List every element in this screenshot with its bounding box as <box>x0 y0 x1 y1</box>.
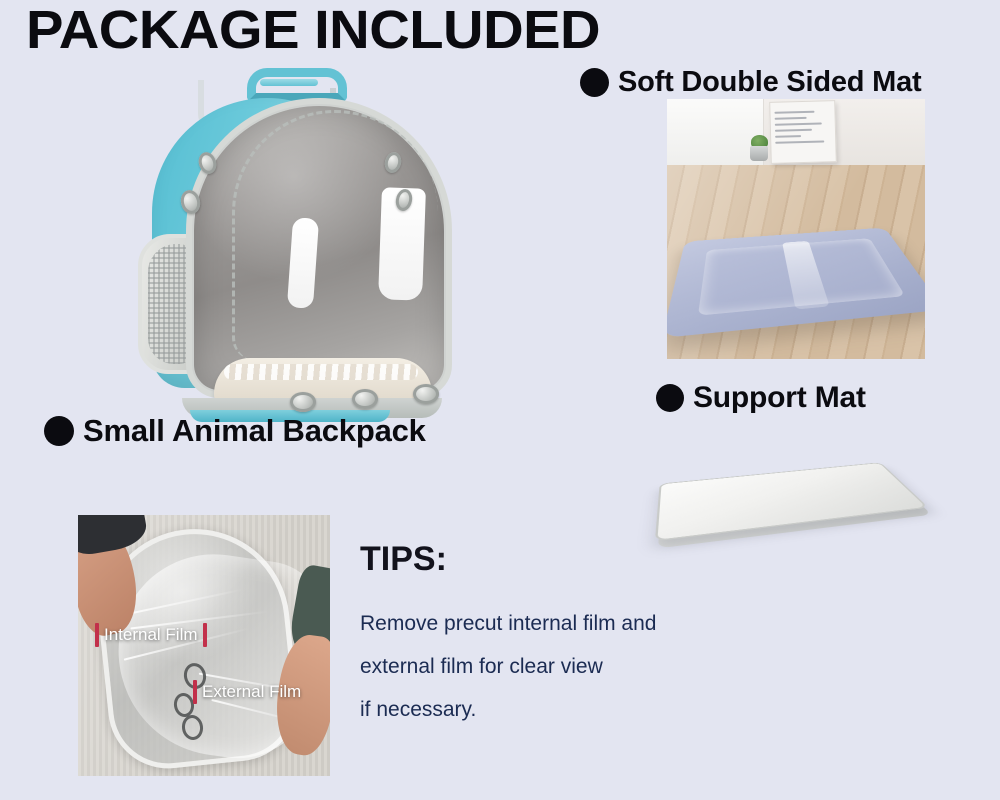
tips-body: Remove precut internal film and external… <box>360 602 656 731</box>
bullet-dot-icon <box>580 68 609 97</box>
bullet-dot-icon <box>44 416 74 446</box>
callout-label: Support Mat <box>693 381 866 415</box>
callout-small-animal-backpack: Small Animal Backpack <box>44 413 426 449</box>
callout-soft-double-sided-mat: Soft Double Sided Mat <box>580 66 922 99</box>
vent-hole-icon <box>290 392 316 412</box>
tips-heading: TIPS: <box>360 540 447 579</box>
mat-photo-potted-plant <box>749 135 769 161</box>
internal-film-marker-icon <box>95 623 99 647</box>
tips-line-2: external film for clear view <box>360 645 656 688</box>
tips-line-1: Remove precut internal film and <box>360 602 656 645</box>
external-film-marker-icon <box>193 680 197 704</box>
internal-film-marker-icon-end <box>203 623 207 647</box>
film-removal-image: Internal Film External Film <box>78 515 330 776</box>
external-film-label: External Film <box>193 680 301 704</box>
backpack-transparent-dome <box>190 102 448 394</box>
bullet-dot-icon <box>656 384 684 412</box>
mat-photo-framed-sign <box>769 100 837 164</box>
package-included-infographic: PACKAGE INCLUDED <box>0 0 1000 800</box>
callout-support-mat: Support Mat <box>656 381 866 415</box>
backpack-handle <box>247 68 347 102</box>
external-film-text: External Film <box>202 682 301 702</box>
backpack-inner-mesh <box>446 343 448 394</box>
plant-pot-icon <box>750 146 768 161</box>
support-mat-surface <box>655 462 929 541</box>
small-animal-backpack-image <box>130 62 460 417</box>
vent-hole-icon <box>352 389 378 409</box>
soft-double-sided-mat-image <box>667 99 925 359</box>
internal-film-label: Internal Film <box>95 623 207 647</box>
support-mat-image <box>662 440 952 570</box>
callout-label: Soft Double Sided Mat <box>618 66 922 99</box>
dome-glare-left <box>287 217 319 309</box>
vent-hole-icon <box>413 384 439 404</box>
page-title: PACKAGE INCLUDED <box>26 2 600 59</box>
callout-label: Small Animal Backpack <box>83 413 426 449</box>
internal-film-text: Internal Film <box>104 625 198 645</box>
tips-line-3: if necessary. <box>360 688 656 731</box>
